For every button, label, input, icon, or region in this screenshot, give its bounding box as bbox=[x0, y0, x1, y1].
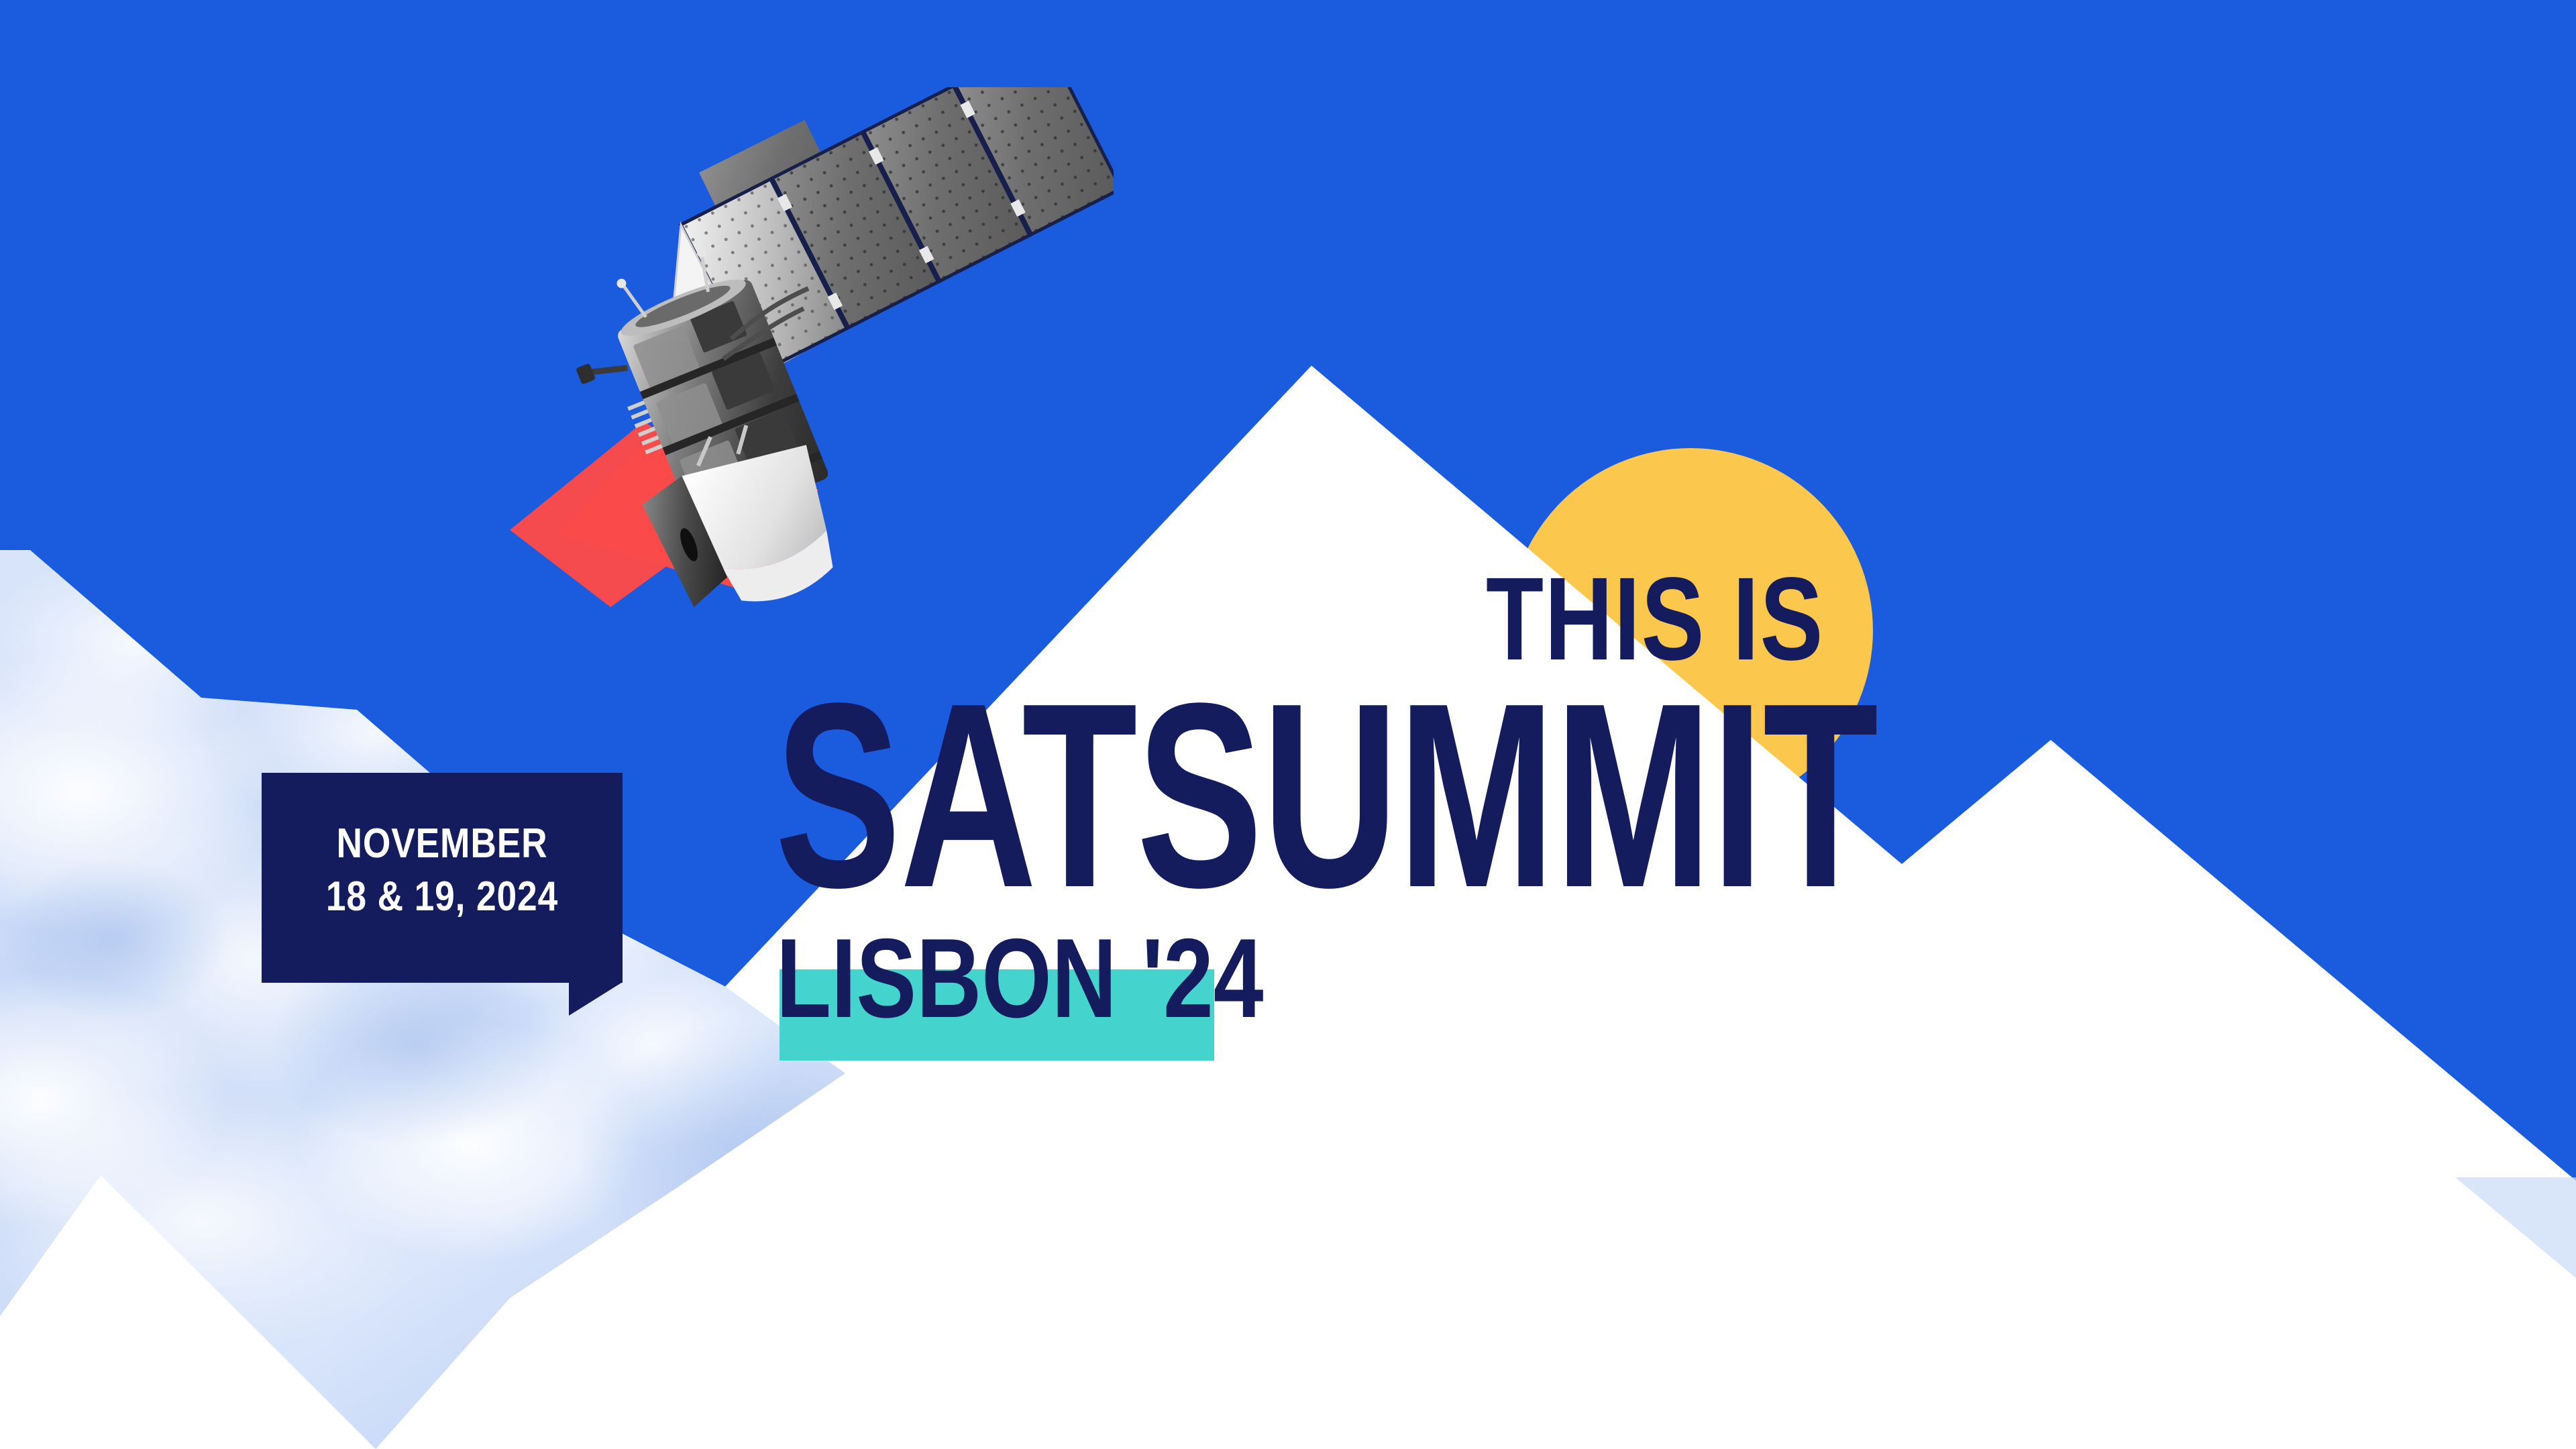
page-title-satsummit: SATSUMMIT bbox=[775, 692, 1878, 900]
poster-canvas: THIS IS SATSUMMIT LISBON '24 NOVEMBER 18… bbox=[0, 0, 2576, 1449]
date-badge-days: 18 & 19, 2024 bbox=[287, 870, 598, 923]
date-badge-tail bbox=[569, 982, 623, 1016]
location-year-text: LISBON '24 bbox=[776, 932, 1264, 1025]
date-badge: NOVEMBER 18 & 19, 2024 bbox=[262, 773, 623, 983]
satellite-illustration bbox=[443, 87, 1114, 610]
date-badge-month: NOVEMBER bbox=[287, 817, 598, 870]
location-year-wrap: LISBON '24 bbox=[776, 932, 1385, 1008]
